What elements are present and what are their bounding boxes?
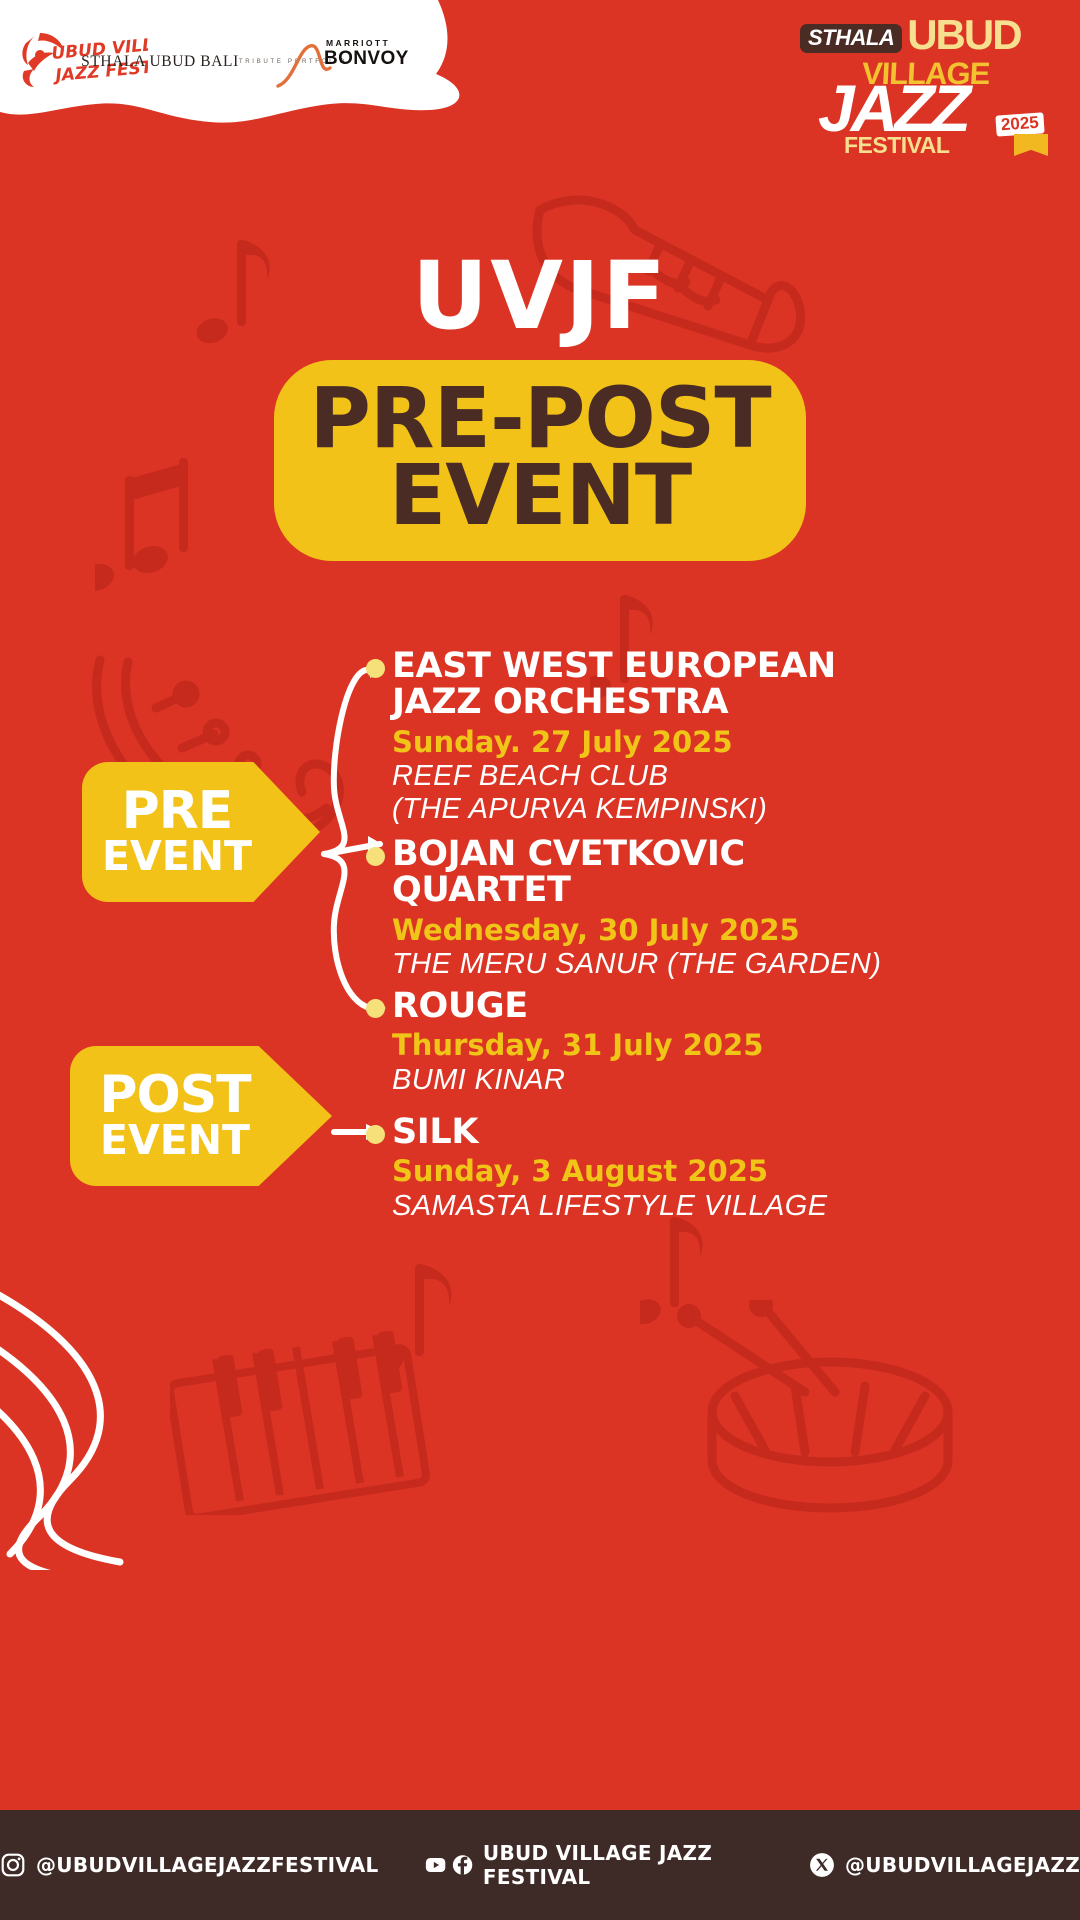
event-name-line1: BOJAN CVETKOVIC [392,836,881,872]
event-date: Wednesday, 30 July 2025 [392,912,881,948]
list-item: ROUGE Thursday, 31 July 2025 BUMI KINAR [392,988,763,1097]
piano-keys-decor-icon [170,1325,430,1515]
bullet-dot-icon [366,999,385,1018]
bullet-dot-icon [366,1125,385,1144]
social-youtube-facebook[interactable]: UBUD VILLAGE JAZZ FESTIVAL [425,1841,763,1889]
lockup-jazz: JAZZ [818,82,967,135]
social-footer: @UBUDVILLAGEJAZZFESTIVAL UBUD VILLAGE JA… [0,1810,1080,1920]
event-date: Sunday, 3 August 2025 [392,1153,827,1189]
event-name-line1: SILK [392,1114,827,1150]
list-item: EAST WEST EUROPEAN JAZZ ORCHESTRA Sunday… [392,648,836,826]
wave-lines-decor [0,1280,310,1570]
bullet-dot-icon [366,847,385,866]
youtube-facebook-handle: UBUD VILLAGE JAZZ FESTIVAL [483,1841,763,1889]
marriott-bonvoy-logo: MARRIOTT BONVOY [280,28,425,94]
music-note-decor-icon [385,1240,490,1385]
pre-event-badge: PRE EVENT [82,762,320,902]
instagram-icon [0,1852,26,1878]
youtube-icon [425,1852,446,1878]
lockup-festival: FESTIVAL [844,134,949,157]
marriott-wordmark: MARRIOTT [326,38,390,48]
event-name-line1: EAST WEST EUROPEAN [392,648,836,684]
sthala-name: STHALA UBUD BALI [81,53,239,71]
lineup-section: PRE EVENT POST EVENT EAST WEST EUROPEAN … [0,648,1080,1248]
event-name-line2: JAZZ ORCHESTRA [392,684,836,720]
sthala-sponsor-logo: STHALA UBUD BALI TRIBUTE PORTFOLIO [148,29,280,93]
x-twitter-icon [809,1852,835,1878]
page-title-acronym: UVJF [0,250,1080,344]
pre-event-badge-line2: EVENT [102,836,252,877]
event-venue-line1: REEF BEACH CLUB [392,760,836,793]
event-name-line2: QUARTET [392,872,881,908]
event-venue-line1: THE MERU SANUR (THE GARDEN) [392,948,881,981]
festival-logo-lockup: STHALA UBUD VILLAGE JAZZ 2025 FESTIVAL [800,22,1050,157]
post-event-badge: POST EVENT [70,1046,332,1186]
bonvoy-wordmark: BONVOY [324,48,409,70]
post-event-badge-line2: EVENT [100,1120,250,1161]
bullet-dot-icon [366,659,385,678]
banner-line-2: EVENT [274,457,806,534]
lockup-sthala: STHALA [800,24,902,53]
social-instagram[interactable]: @UBUDVILLAGEJAZZFESTIVAL [0,1852,379,1878]
drum-decor-icon [655,1300,985,1530]
event-venue-line1: BUMI KINAR [392,1064,763,1097]
pre-event-badge-line1: PRE [122,787,233,836]
lockup-ubud: UBUD [907,18,1020,52]
list-item: SILK Sunday, 3 August 2025 SAMASTA LIFES… [392,1114,827,1223]
pre-post-event-banner: PRE-POST EVENT [274,360,806,561]
social-x-twitter[interactable]: @UBUDVILLAGEJAZZ [809,1852,1080,1878]
x-handle: @UBUDVILLAGEJAZZ [845,1853,1080,1877]
lockup-flag-shape [1014,134,1048,156]
list-item: BOJAN CVETKOVIC QUARTET Wednesday, 30 Ju… [392,836,881,981]
event-venue-line1: SAMASTA LIFESTYLE VILLAGE [392,1190,827,1223]
event-date: Sunday. 27 July 2025 [392,724,836,760]
headline-block: UVJF PRE-POST EVENT [0,250,1080,561]
lockup-year: 2025 [996,112,1045,136]
post-event-badge-line1: POST [99,1071,250,1120]
instagram-handle: @UBUDVILLAGEJAZZFESTIVAL [36,1853,379,1877]
event-name-line1: ROUGE [392,988,763,1024]
event-venue-line2: (THE APURVA KEMPINSKI) [392,793,836,826]
event-date: Thursday, 31 July 2025 [392,1027,763,1063]
sponsor-bar: UBUD VILLAGE JAZZ FESTIVAL STHALA UBUD B… [0,0,470,140]
facebook-icon [452,1852,473,1878]
